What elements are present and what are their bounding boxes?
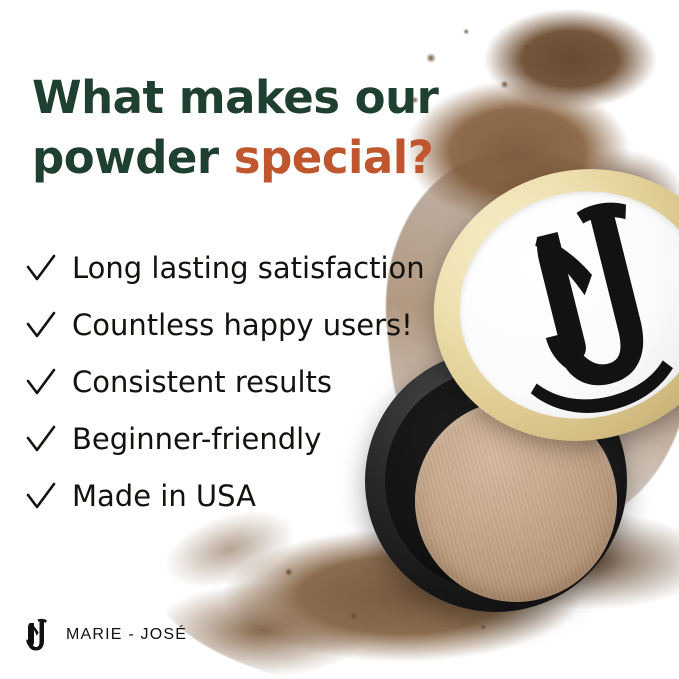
headline-line-1: What makes our (32, 71, 438, 124)
brand-footer: MARIE - JOSÉ (16, 615, 187, 655)
mj-monogram-icon (435, 165, 679, 444)
list-item: Beginner-friendly (26, 411, 466, 468)
product-infographic: What makes our powder special? Long last… (0, 0, 679, 679)
headline-line-2-prefix: powder (32, 131, 234, 184)
benefit-label: Made in USA (72, 482, 256, 511)
brand-name: MARIE - JOSÉ (66, 626, 187, 644)
check-icon (26, 423, 56, 457)
list-item: Consistent results (26, 354, 466, 411)
compact-lid-face (435, 165, 679, 444)
list-item: Countless happy users! (26, 297, 466, 354)
check-icon (26, 252, 56, 286)
check-icon (26, 309, 56, 343)
benefit-label: Countless happy users! (72, 311, 413, 340)
check-icon (26, 480, 56, 514)
list-item: Made in USA (26, 468, 466, 525)
benefits-list: Long lasting satisfaction Countless happ… (26, 240, 466, 525)
headline-accent-word: special? (234, 131, 434, 184)
headline: What makes our powder special? (32, 68, 502, 188)
list-item: Long lasting satisfaction (26, 240, 466, 297)
benefit-label: Consistent results (72, 368, 332, 397)
benefit-label: Beginner-friendly (72, 425, 321, 454)
benefit-label: Long lasting satisfaction (72, 254, 425, 283)
check-icon (26, 366, 56, 400)
mj-logo-icon (16, 615, 56, 655)
